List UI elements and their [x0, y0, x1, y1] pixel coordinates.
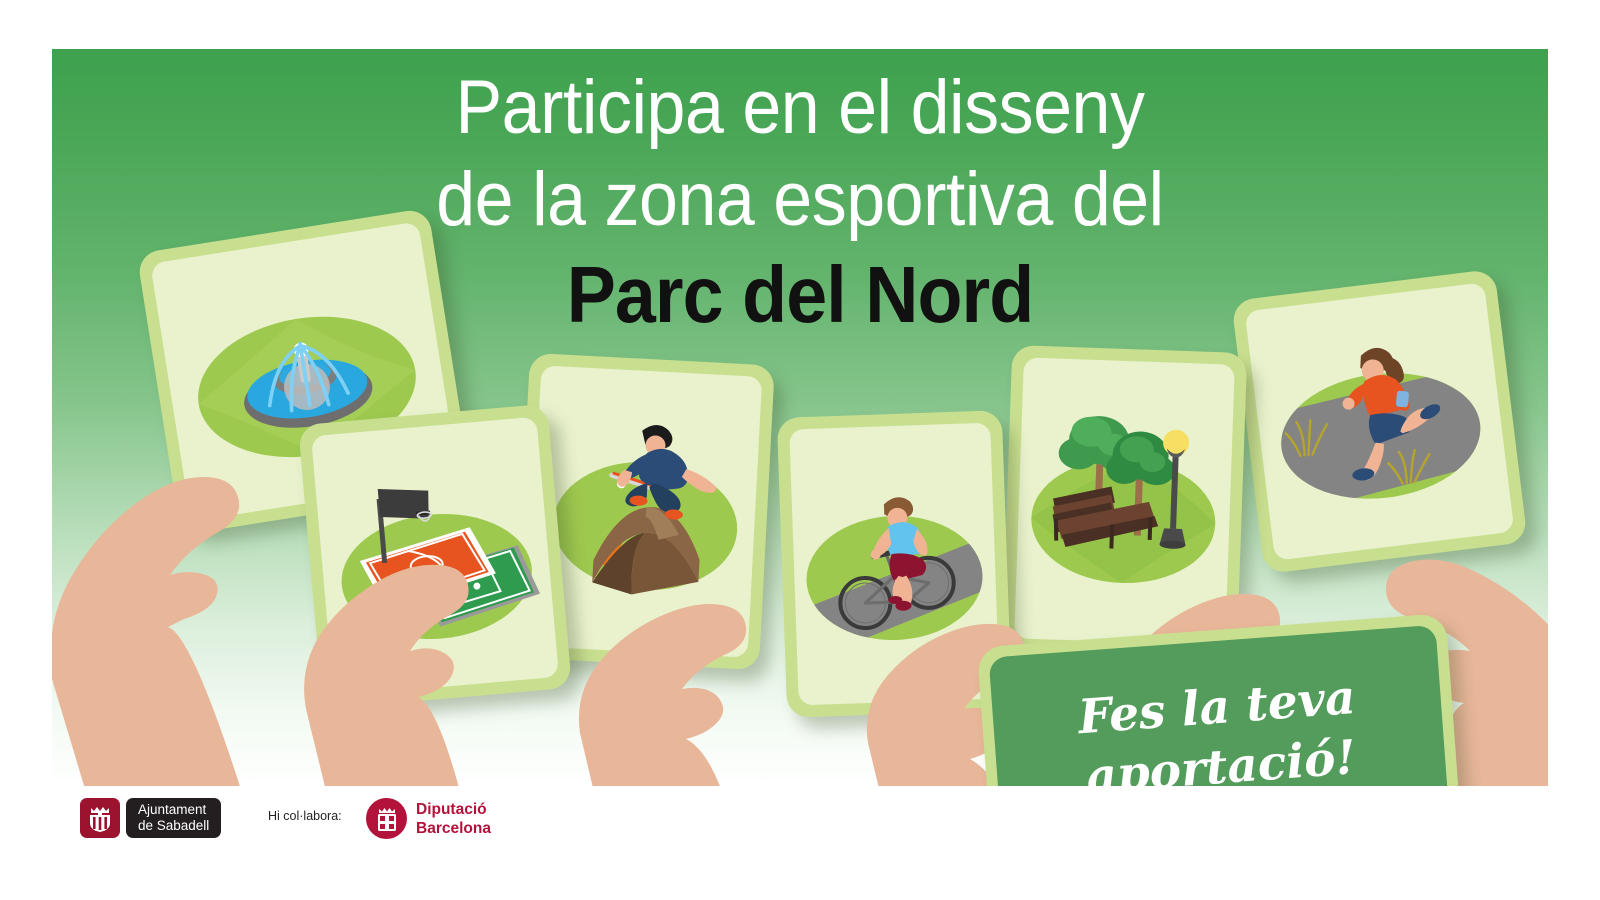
ajuntament-logo-group[interactable]: Ajuntament de Sabadell	[80, 798, 221, 838]
diputacio-crest-icon	[366, 798, 407, 839]
card-running-path-art	[1245, 282, 1515, 560]
card-bench-trees-art	[1014, 357, 1235, 645]
diputacio-logo[interactable]: Diputació Barcelona	[366, 798, 491, 839]
diputacio-name: Diputació Barcelona	[416, 800, 491, 838]
collaborate-label: Hi col·labora:	[268, 809, 342, 823]
ajuntament-logo[interactable]: Ajuntament de Sabadell	[80, 798, 221, 838]
card-cycling-path[interactable]	[777, 410, 1012, 718]
card-sports-courts[interactable]	[298, 404, 572, 710]
diputacio-line-2: Barcelona	[416, 819, 491, 838]
ajuntament-line-1: Ajuntament	[138, 802, 209, 818]
card-running-path[interactable]	[1231, 269, 1528, 574]
card-cycling-path-art	[789, 423, 1000, 706]
poster-root: Participa en el disseny de la zona espor…	[0, 0, 1600, 900]
ajuntament-line-2: de Sabadell	[138, 818, 209, 834]
ajuntament-name-pill: Ajuntament de Sabadell	[126, 798, 221, 838]
card-bench-trees[interactable]	[1002, 345, 1248, 658]
footer-bar: Ajuntament de Sabadell Hi col·labora:	[0, 786, 1600, 900]
sabadell-crest-icon	[80, 798, 120, 838]
card-sports-courts-art	[311, 417, 559, 697]
diputacio-line-1: Diputació	[416, 800, 491, 819]
